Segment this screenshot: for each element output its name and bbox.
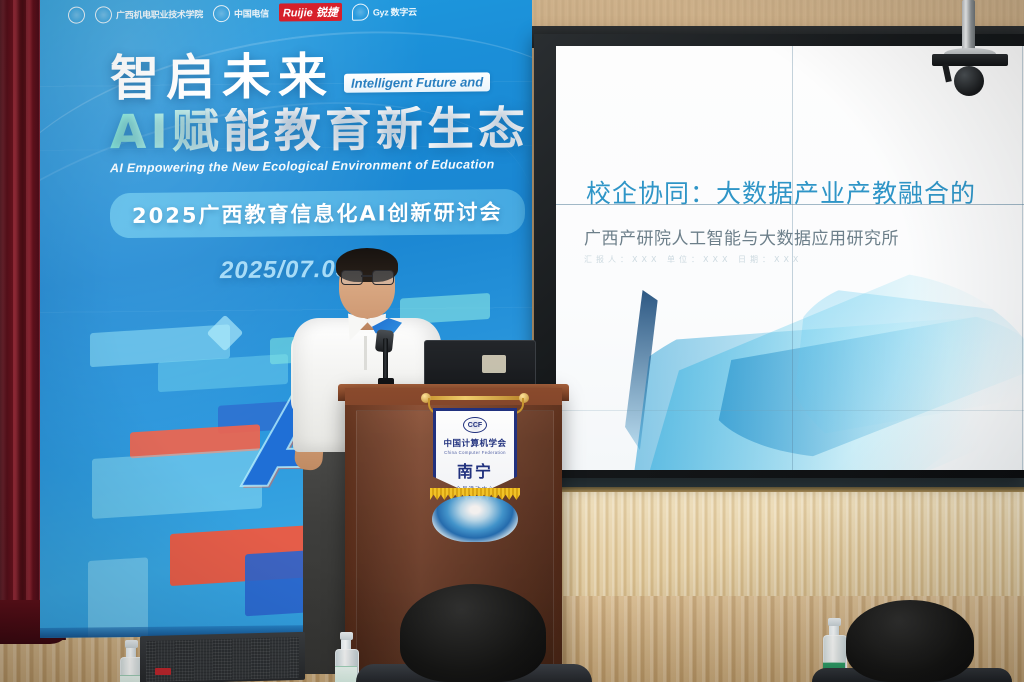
bottle-neck	[341, 640, 351, 649]
videowall-seam-vertical-1	[792, 46, 793, 470]
backdrop-block-11	[88, 557, 148, 638]
backdrop-title-cn-line1: 智启未来	[110, 53, 334, 103]
bottle-cap	[828, 618, 841, 626]
slide-ribbon-spike	[624, 289, 658, 450]
videowall-seam-horizontal-1	[556, 204, 1024, 205]
slide-subtitle: 广西产研院人工智能与大数据应用研究所	[584, 224, 899, 249]
pennant-organization-cn: 中国计算机学会	[443, 437, 506, 449]
headline-row-1: 智启未来 Intelligent Future and	[110, 51, 532, 104]
bottle-neck	[126, 648, 136, 657]
speaker-brand-logo	[155, 668, 171, 675]
water-bottle-left	[120, 640, 142, 682]
slide-ribbon-4	[765, 250, 1024, 470]
speaker-shirt-placket	[364, 336, 367, 370]
bottle-body	[335, 649, 359, 682]
logo-university-seal	[68, 6, 85, 23]
logo-china-telecom: 中国电信	[213, 4, 269, 22]
projector-lens-icon	[954, 66, 984, 96]
backdrop-block-6	[92, 448, 262, 519]
bottle-cap	[340, 632, 353, 640]
audience-head-center	[400, 584, 546, 682]
logo-vocational-college-label: 广西机电职业技术学院	[116, 7, 203, 21]
logo-gyz-cloud-label: Gyz 数字云	[373, 5, 417, 18]
water-bottle-center	[335, 632, 357, 682]
seal-icon	[68, 6, 85, 23]
wainscot-panel	[540, 492, 1024, 600]
backdrop-title-en-badge: Intelligent Future and	[344, 72, 490, 93]
glasses-lens-left	[341, 270, 363, 285]
conference-photo-scene: 广西机电职业技术学院 中国电信 Ruijie 锐捷 Gyz 数字云 智启未来 I…	[0, 0, 1024, 682]
microphone-stem	[383, 338, 388, 382]
ccf-emblem-icon: CCF	[463, 417, 487, 433]
pennant-seal-graphic	[432, 496, 518, 542]
projection-screen: 校企协同：大数据产业产教融合的 广西产研院人工智能与大数据应用研究所 汇报人：X…	[556, 46, 1024, 470]
pennant-city: 南宁	[457, 458, 493, 482]
slide-ribbon-1	[590, 233, 1024, 470]
logo-gyz-cloud: Gyz 数字云	[352, 3, 417, 21]
backdrop-headline-block: 智启未来 Intelligent Future and AI赋能教育新生态 AI…	[110, 51, 532, 286]
audience-head-right	[846, 600, 974, 682]
logo-ruijie: Ruijie 锐捷	[279, 3, 342, 22]
glasses-bridge	[361, 275, 372, 277]
bottle-label	[335, 666, 357, 682]
videowall-seam-horizontal-2	[556, 410, 1024, 411]
sponsor-logo-strip: 广西机电职业技术学院 中国电信 Ruijie 锐捷 Gyz 数字云	[40, 0, 532, 30]
gyz-icon	[352, 3, 369, 20]
speaker-grille	[146, 637, 299, 682]
backdrop-title-cn-line2: AI赋能教育新生态	[110, 105, 532, 157]
college-icon	[95, 6, 112, 23]
slide-ribbon-3	[701, 296, 1024, 469]
backdrop-conference-name: 2025广西教育信息化AI创新研讨会	[110, 189, 525, 238]
bottle-label	[120, 675, 142, 682]
bottle-cap	[125, 640, 138, 648]
speaker-glasses-icon	[341, 270, 393, 283]
glasses-lens-right	[372, 270, 394, 285]
videowall-seam-vertical-2	[1022, 46, 1023, 470]
slide-meta-line: 汇报人：XXX 单位：XXX 日期：XXX	[584, 254, 802, 265]
telecom-icon	[213, 5, 230, 22]
logo-china-telecom-label: 中国电信	[234, 6, 269, 19]
logo-vocational-college: 广西机电职业技术学院	[95, 5, 203, 23]
bottle-neck	[829, 626, 839, 635]
pennant-organization-en: China Computer Federation	[444, 450, 506, 455]
laptop-sticker	[482, 355, 506, 373]
